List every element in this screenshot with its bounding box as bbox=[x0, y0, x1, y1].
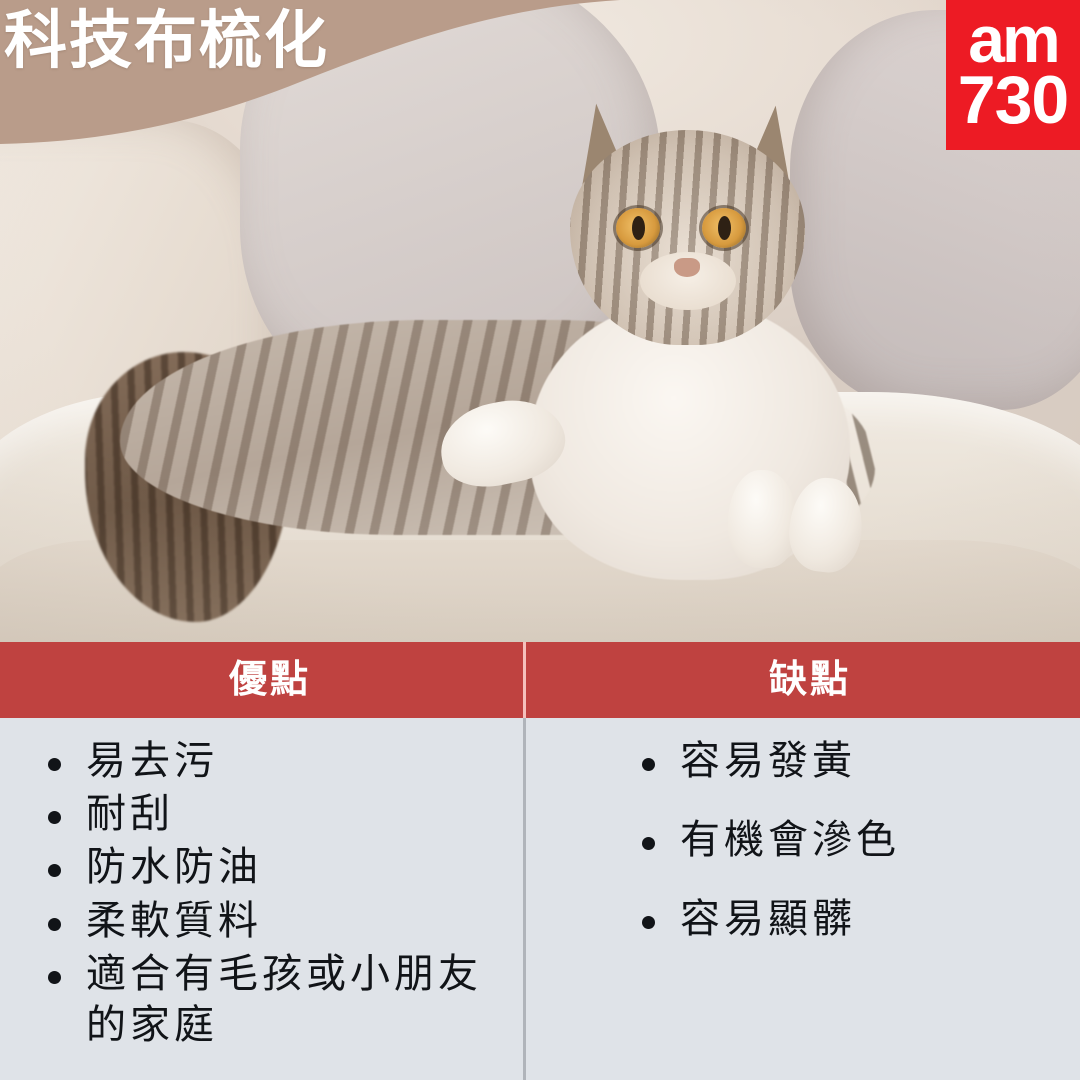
column-cell-cons: 容易發黃有機會滲色容易顯髒 bbox=[540, 718, 1080, 1080]
table-header-row: 優點 缺點 bbox=[0, 642, 1080, 718]
column-cell-pros: 易去污耐刮防水防油柔軟質料適合有毛孩或小朋友的家庭 bbox=[0, 718, 540, 1080]
list-item: 防水防油 bbox=[44, 842, 518, 893]
page-title: 科技布梳化 bbox=[4, 10, 329, 73]
list-item: 易去污 bbox=[44, 736, 518, 787]
column-divider bbox=[523, 642, 526, 1080]
list-item: 耐刮 bbox=[44, 789, 518, 840]
cat-eye-right bbox=[702, 208, 746, 248]
column-header-pros: 優點 bbox=[0, 642, 540, 718]
cat-nose bbox=[674, 258, 700, 277]
list-item: 容易顯髒 bbox=[638, 894, 1058, 945]
pros-list: 易去污耐刮防水防油柔軟質料適合有毛孩或小朋友的家庭 bbox=[44, 736, 518, 1051]
logo-text-730: 730 bbox=[946, 66, 1080, 134]
pros-cons-table: 優點 缺點 易去污耐刮防水防油柔軟質料適合有毛孩或小朋友的家庭 容易發黃有機會滲… bbox=[0, 642, 1080, 1080]
cat-eye-left bbox=[616, 208, 660, 248]
list-item: 柔軟質料 bbox=[44, 896, 518, 947]
cat-paw-front-right bbox=[728, 470, 798, 568]
infographic-page: 科技布梳化 am 730 優點 缺點 易去污耐刮防水防油柔軟質料適合有毛孩或小朋… bbox=[0, 0, 1080, 1080]
table-body-row: 易去污耐刮防水防油柔軟質料適合有毛孩或小朋友的家庭 容易發黃有機會滲色容易顯髒 bbox=[0, 718, 1080, 1080]
list-item: 容易發黃 bbox=[638, 736, 1058, 787]
list-item: 適合有毛孩或小朋友的家庭 bbox=[44, 949, 518, 1051]
list-item: 有機會滲色 bbox=[638, 815, 1058, 866]
cons-list: 容易發黃有機會滲色容易顯髒 bbox=[584, 736, 1058, 946]
cat-pupil-right bbox=[718, 216, 731, 240]
am730-logo[interactable]: am 730 bbox=[946, 0, 1080, 150]
cat-pupil-left bbox=[632, 216, 645, 240]
column-header-cons: 缺點 bbox=[540, 642, 1080, 718]
